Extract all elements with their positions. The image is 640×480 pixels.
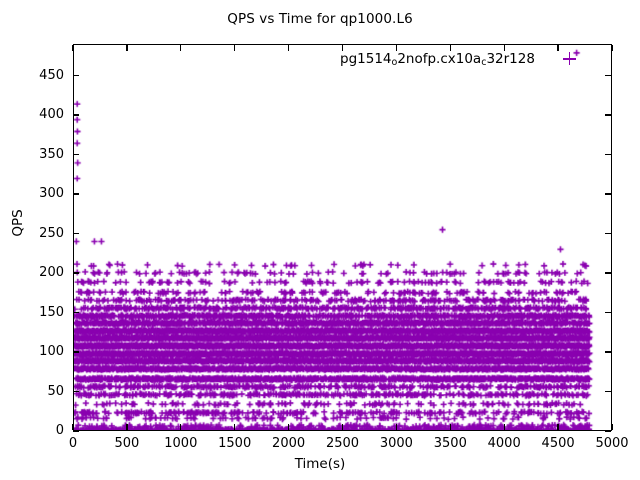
x-tick: [396, 424, 397, 430]
x-tick: [288, 45, 289, 51]
x-tick: [611, 424, 612, 430]
x-tick: [504, 424, 505, 430]
plot-area: [73, 44, 612, 431]
scatter-canvas: [74, 45, 611, 430]
y-tick: [73, 430, 79, 431]
x-tick: [180, 45, 181, 51]
legend-entry-label: pg1514o2nofp.cx10ac32r128: [340, 51, 535, 68]
y-tick-label: 50: [4, 384, 64, 399]
y-tick: [605, 351, 611, 352]
y-tick: [605, 154, 611, 155]
y-tick: [605, 312, 611, 313]
x-tick: [72, 45, 73, 51]
x-tick: [234, 424, 235, 430]
x-tick-label: 5000: [572, 436, 640, 451]
chart-screenshot: QPS vs Time for qp1000.L6 05010015020025…: [0, 0, 640, 480]
y-tick: [73, 154, 79, 155]
y-tick: [73, 233, 79, 234]
y-tick-label: 350: [4, 147, 64, 162]
y-tick: [605, 114, 611, 115]
x-tick: [234, 45, 235, 51]
legend: pg1514o2nofp.cx10ac32r128: [340, 48, 577, 70]
x-tick: [126, 424, 127, 430]
legend-plus-marker-icon: [563, 52, 577, 66]
x-tick: [342, 424, 343, 430]
x-axis-label: Time(s): [0, 456, 640, 472]
y-tick-label: 100: [4, 344, 64, 359]
x-tick: [126, 45, 127, 51]
y-tick: [73, 114, 79, 115]
y-tick-label: 200: [4, 265, 64, 280]
y-tick: [605, 75, 611, 76]
x-tick: [288, 424, 289, 430]
y-tick: [605, 233, 611, 234]
y-tick-label: 400: [4, 107, 64, 122]
chart-title: QPS vs Time for qp1000.L6: [0, 11, 640, 27]
y-tick-label: 150: [4, 305, 64, 320]
y-axis-label: QPS: [10, 183, 26, 263]
y-tick: [605, 193, 611, 194]
x-tick: [72, 424, 73, 430]
x-tick: [180, 424, 181, 430]
x-tick: [611, 45, 612, 51]
y-tick: [605, 391, 611, 392]
y-tick: [73, 351, 79, 352]
y-tick: [73, 193, 79, 194]
y-tick: [73, 272, 79, 273]
y-tick: [73, 312, 79, 313]
y-tick: [73, 391, 79, 392]
y-tick: [605, 430, 611, 431]
x-tick: [557, 424, 558, 430]
y-tick: [605, 272, 611, 273]
y-tick-label: 450: [4, 68, 64, 83]
x-tick: [450, 424, 451, 430]
y-tick: [73, 75, 79, 76]
